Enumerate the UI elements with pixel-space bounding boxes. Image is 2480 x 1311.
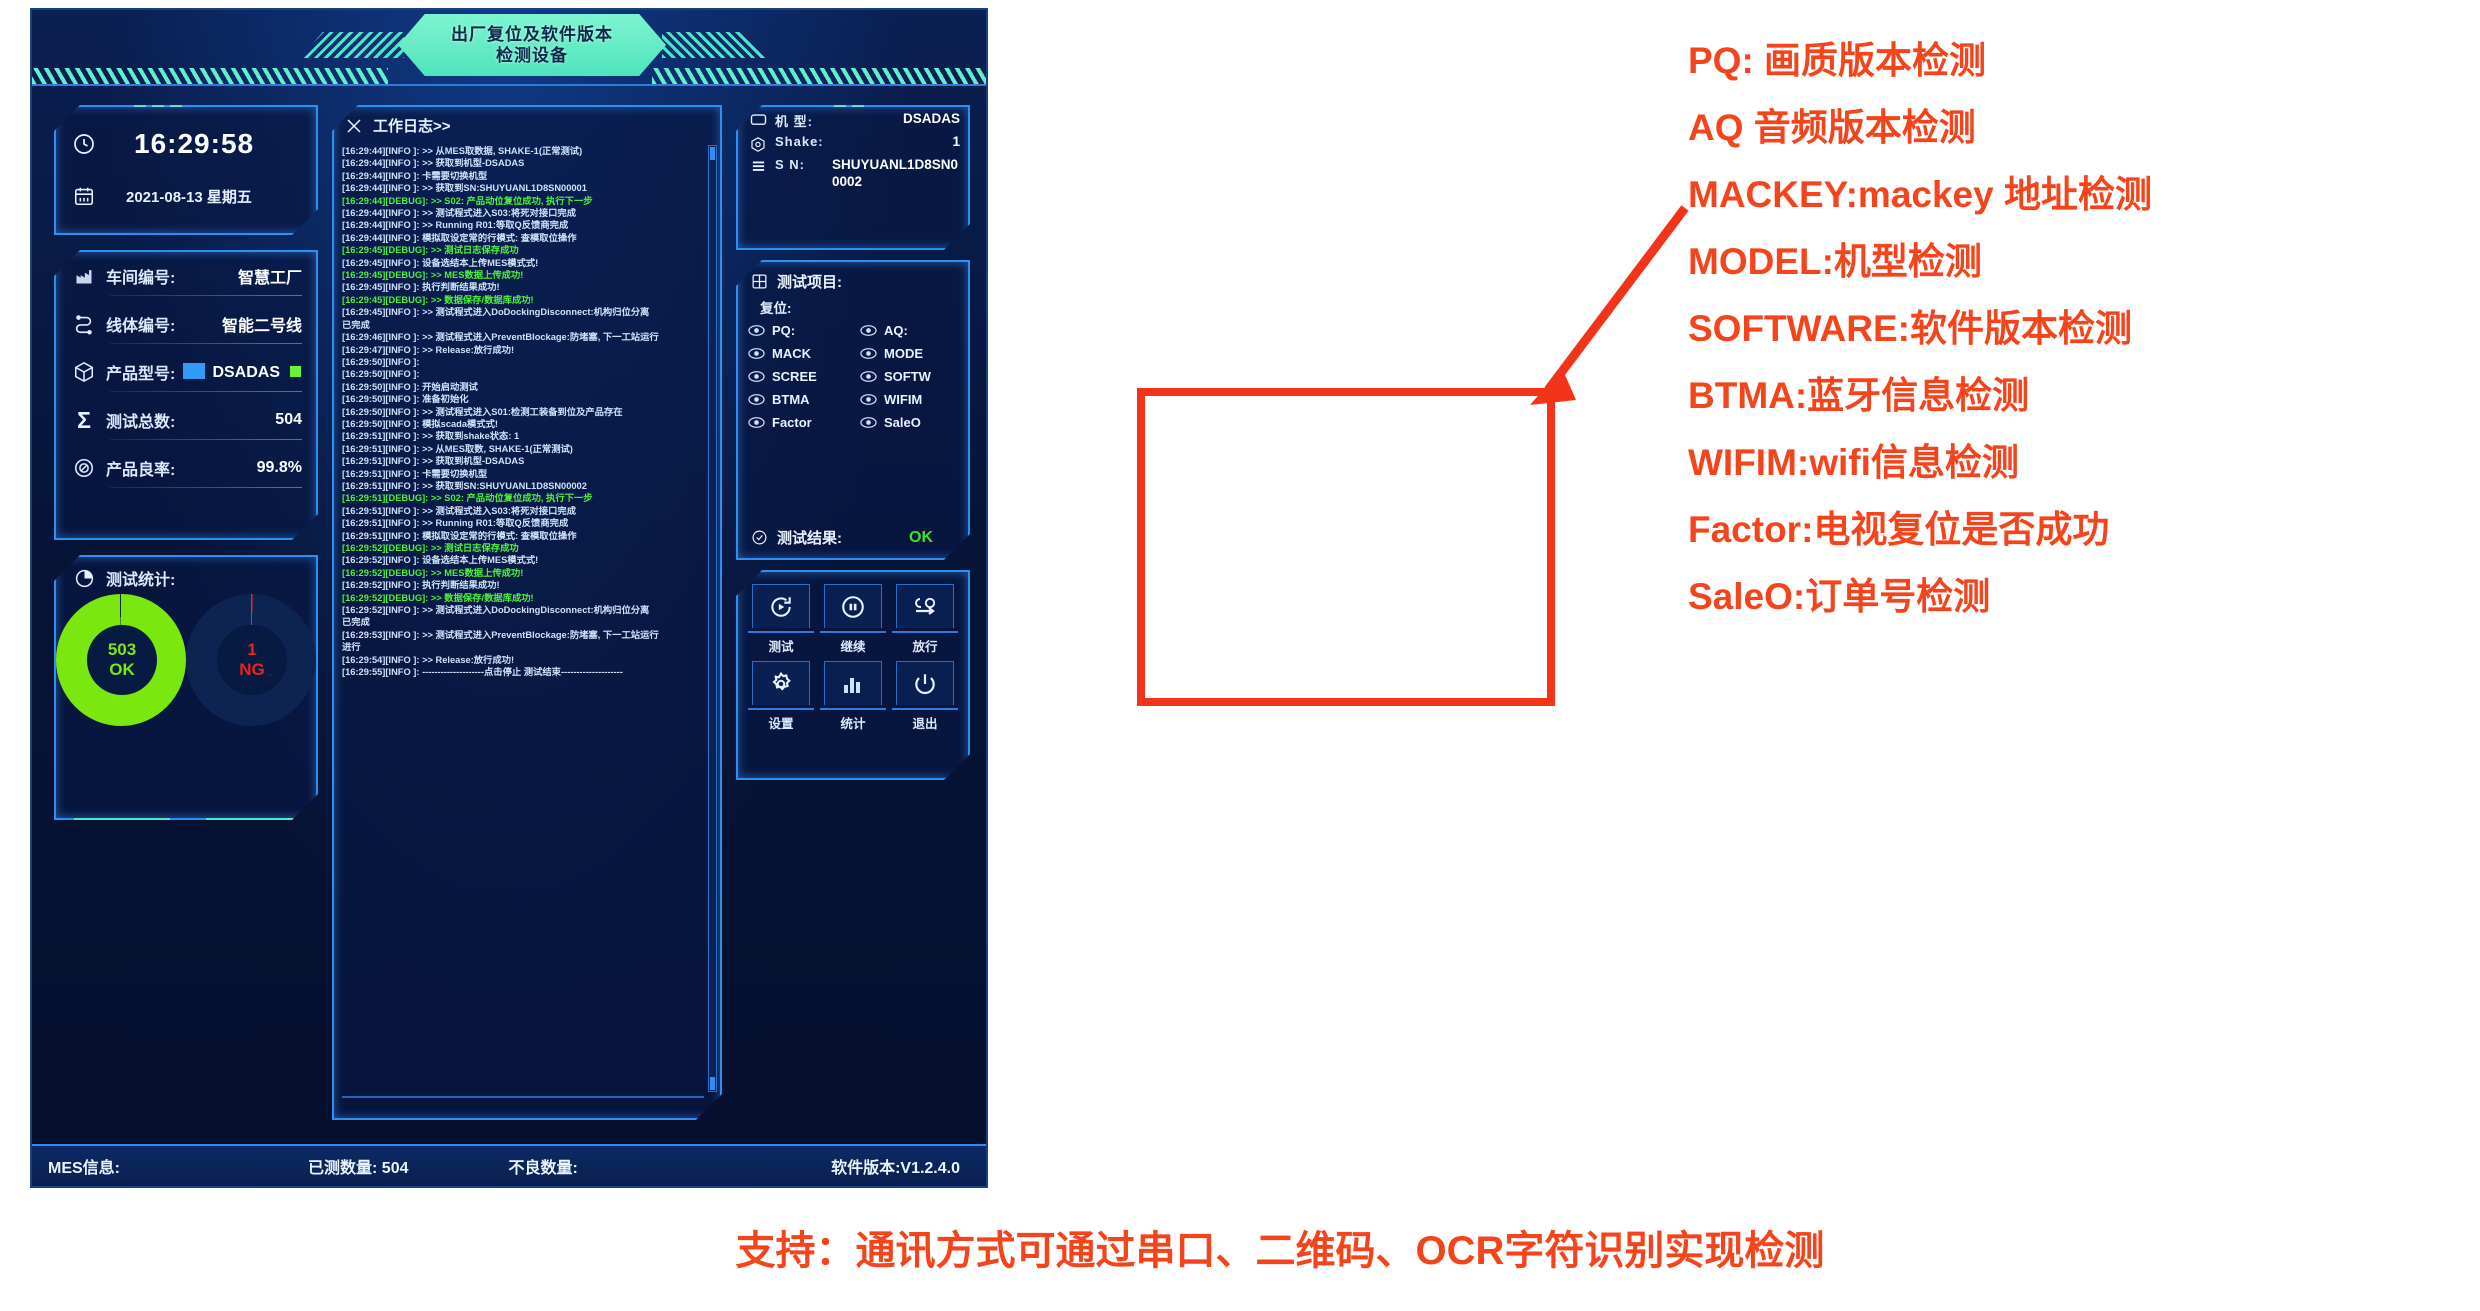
statistics-panel: 测试统计: 503 OK 1 NG	[54, 555, 318, 820]
log-line: [16:29:45][DEBUG]: >> MES数据上传成功!	[342, 269, 704, 281]
bottom-caption: 支持：通讯方式可通过串口、二维码、OCR字符识别实现检测	[480, 1218, 2080, 1276]
log-line: [16:29:52][INFO ]: 执行判断结果成功!	[342, 579, 704, 591]
log-line: [16:29:44][INFO ]: 模拟取设定常的行模式: 查模取位操作	[342, 232, 704, 244]
statistics-title: 测试统计:	[106, 566, 175, 590]
log-title: 工作日志>>	[373, 115, 451, 136]
button-label: 设置	[748, 708, 814, 732]
ok-count: 503	[108, 640, 136, 660]
power-icon	[896, 661, 954, 705]
test-item[interactable]: AQ:	[860, 323, 968, 338]
eye-icon	[860, 371, 877, 382]
mes-info-label: MES信息:	[48, 1154, 120, 1178]
go-icon	[896, 584, 954, 628]
test-item-label: SCREE	[772, 369, 817, 384]
test-result-row: 测试结果: OK	[749, 527, 957, 548]
tools-icon	[344, 117, 364, 135]
button-label: 测试	[748, 631, 814, 655]
info-label: 产品型号:	[106, 360, 175, 384]
test-button[interactable]: 测试	[746, 584, 816, 655]
factory-icon	[70, 266, 98, 286]
app-title-line1: 出厂复位及软件版本	[451, 24, 613, 45]
panel-nub	[852, 101, 864, 107]
defect-count-label: 不良数量:	[509, 1154, 578, 1178]
test-result-label: 测试结果:	[777, 527, 842, 548]
eye-icon	[748, 325, 765, 336]
play-refresh-icon	[752, 584, 810, 628]
current-time: 16:29:58	[134, 128, 254, 160]
log-line: [16:29:45][INFO ]: >> 测试程式进入DoDockingDis…	[342, 306, 704, 318]
log-line: [16:29:51][INFO ]: >> 测试程式进入S03:将死对接口完成	[342, 505, 704, 517]
device-row-model: 机 型: DSADAS	[738, 107, 968, 130]
log-line: [16:29:50][INFO ]:	[342, 356, 704, 368]
log-line: [16:29:51][INFO ]: >> 获取到机型-DSADAS	[342, 455, 704, 467]
info-row-model[interactable]: 产品型号: DSADAS	[56, 348, 316, 396]
log-line: [16:29:44][INFO ]: >> 从MES取数据, SHAKE-1(正…	[342, 145, 704, 157]
test-item-label: MACK	[772, 346, 811, 361]
production-info-panel: 车间编号: 智慧工厂 线体编号: 智能二号线 产品型号:	[54, 250, 318, 540]
test-item[interactable]: Factor	[748, 415, 856, 430]
info-value: 99.8%	[257, 459, 302, 477]
annotation-list: PQ: 画质版本检测AQ 音频版本检测MACKEY:mackey 地址检测MOD…	[1688, 42, 2458, 645]
header-banner: 出厂复位及软件版本 检测设备	[32, 10, 986, 88]
clock-icon	[70, 132, 98, 156]
device-info-panel: 机 型: DSADAS Shake: 1 S N:	[736, 105, 970, 250]
info-value: DSADAS	[212, 364, 280, 381]
log-line: [16:29:52][DEBUG]: >> 测试日志保存成功	[342, 542, 704, 554]
hex-icon	[746, 134, 770, 153]
eye-icon	[748, 394, 765, 405]
panel-nub	[170, 99, 182, 107]
eye-icon	[748, 348, 765, 359]
banner-wing-left	[300, 32, 404, 58]
ok-donut-center: 503 OK	[87, 625, 157, 695]
device-label: 机 型:	[775, 111, 813, 130]
test-items-grid: PQ:AQ:MACKMODESCREESOFTWBTMAWIFIMFactorS…	[738, 319, 968, 430]
info-row-total: Σ 测试总数: 504	[56, 396, 316, 444]
device-value: 1	[928, 134, 960, 151]
software-version-label: 软件版本:V1.2.4.0	[831, 1154, 960, 1178]
log-line: [16:29:45][INFO ]: 执行判断结果成功!	[342, 281, 704, 293]
box-icon	[70, 361, 98, 383]
annotation-line: MODEL:机型检测	[1688, 243, 2458, 280]
exit-button[interactable]: 退出	[890, 661, 960, 732]
log-footer-divider	[342, 1096, 704, 1098]
statistics-button[interactable]: 统计	[818, 661, 888, 732]
test-item-label: SOFTW	[884, 369, 931, 384]
log-line: [16:29:44][INFO ]: >> 获取到机型-DSADAS	[342, 157, 704, 169]
test-item[interactable]: SCREE	[748, 369, 856, 384]
test-item[interactable]: WIFIM	[860, 392, 968, 407]
eye-icon	[860, 325, 877, 336]
gear-icon	[752, 661, 810, 705]
datetime-panel: 16:29:58 2021-08-13 星期五	[54, 105, 318, 235]
log-line: [16:29:52][INFO ]: >> 测试程式进入DoDockingDis…	[342, 604, 704, 616]
hatch-right	[652, 68, 988, 84]
test-item[interactable]: MODE	[860, 346, 968, 361]
log-line: [16:29:55][INFO ]: --------------------点…	[342, 666, 704, 678]
log-line: 已完成	[342, 319, 704, 331]
test-item-label: AQ:	[884, 323, 908, 338]
button-label: 统计	[820, 708, 886, 732]
panel-nub	[152, 101, 164, 107]
pie-chart-icon	[70, 568, 98, 589]
test-item[interactable]: MACK	[748, 346, 856, 361]
log-line: [16:29:44][INFO ]: 卡需要切换机型	[342, 170, 704, 182]
banner-wing-right	[662, 32, 766, 58]
eye-icon	[748, 417, 765, 428]
hmi-screen: 出厂复位及软件版本 检测设备 16:29:58	[30, 8, 988, 1188]
log-line: [16:29:51][INFO ]: >> Running R01:等取Q反馈商…	[342, 517, 704, 529]
device-row-shake: Shake: 1	[738, 130, 968, 153]
panel-deco	[206, 818, 306, 821]
status-bar: MES信息: 已测数量: 504 不良数量: 软件版本:V1.2.4.0	[32, 1144, 986, 1186]
sigma-icon: Σ	[70, 407, 98, 434]
highlight-callout-box	[1137, 388, 1555, 706]
action-buttons-panel: 测试 继续 放行	[736, 570, 970, 780]
log-line: 进行	[342, 641, 704, 653]
test-items-panel: 测试项目: 复位: PQ:AQ:MACKMODESCREESOFTWBTMAWI…	[736, 260, 970, 560]
log-line: [16:29:51][INFO ]: >> 从MES取数, SHAKE-1(正常…	[342, 443, 704, 455]
info-value: 504	[275, 411, 302, 429]
log-lines-container[interactable]: [16:29:44][INFO ]: >> 从MES取数据, SHAKE-1(正…	[342, 145, 704, 1092]
device-value: DSADAS	[903, 111, 960, 128]
list-icon	[746, 157, 770, 174]
log-line: [16:29:51][INFO ]: 模拟取设定常的行模式: 查模取位操作	[342, 530, 704, 542]
annotation-line: SaleO:订单号检测	[1688, 578, 2458, 615]
app-title-line2: 检测设备	[496, 45, 568, 66]
log-line: [16:29:50][INFO ]: 开始启动测试	[342, 381, 704, 393]
ng-donut-center: 1 NG	[217, 625, 287, 695]
log-line: [16:29:46][INFO ]: >> 测试程式进入PreventBlock…	[342, 331, 704, 343]
info-row-workshop: 车间编号: 智慧工厂	[56, 252, 316, 300]
model-color-swatch	[183, 363, 205, 379]
statistics-donuts: 503 OK 1 NG	[56, 594, 316, 726]
log-line: [16:29:50][INFO ]: 准备初始化	[342, 393, 704, 405]
model-status-dot	[289, 365, 302, 378]
ok-donut: 503 OK	[56, 594, 186, 726]
test-result-value: OK	[909, 529, 933, 547]
test-item[interactable]: SOFTW	[860, 369, 968, 384]
eye-icon	[860, 394, 877, 405]
log-line: [16:29:47][INFO ]: >> Release:放行成功!	[342, 344, 704, 356]
test-item[interactable]: SaleO	[860, 415, 968, 430]
pause-icon	[824, 584, 882, 628]
screenshot-root: 出厂复位及软件版本 检测设备 16:29:58	[0, 0, 2480, 1311]
work-log-panel: 工作日志>> [16:29:44][INFO ]: >> 从MES取数据, SH…	[332, 105, 722, 1120]
ng-count: 1	[247, 640, 256, 660]
info-label: 产品良率:	[106, 456, 175, 480]
eye-icon	[748, 371, 765, 382]
annotation-line: Factor:电视复位是否成功	[1688, 511, 2458, 548]
callout-arrow	[1520, 200, 1690, 410]
app-title: 出厂复位及软件版本 检测设备	[398, 14, 666, 76]
test-item-label: Factor	[772, 415, 812, 430]
grid-icon	[749, 273, 769, 290]
header-divider	[32, 84, 986, 86]
current-date: 2021-08-13 星期五	[126, 186, 252, 207]
info-value: 智能二号线	[222, 312, 302, 336]
result-icon	[749, 529, 769, 546]
device-label: S N:	[775, 157, 805, 172]
log-line: [16:29:54][INFO ]: >> Release:放行成功!	[342, 654, 704, 666]
button-label: 退出	[892, 708, 958, 732]
info-label: 测试总数:	[106, 408, 175, 432]
device-value: SHUYUANL1D8SN00002	[832, 157, 960, 191]
test-items-header: 测试项目:	[738, 262, 968, 294]
line-icon	[70, 313, 98, 335]
panel-nub	[834, 99, 846, 107]
panel-deco	[74, 818, 170, 821]
annotation-line: BTMA:蓝牙信息检测	[1688, 377, 2458, 414]
test-item[interactable]: PQ:	[748, 323, 856, 338]
device-label: Shake:	[775, 134, 824, 149]
log-line: [16:29:45][DEBUG]: >> 测试日志保存成功	[342, 244, 704, 256]
device-row-sn: S N: SHUYUANL1D8SN00002	[738, 153, 968, 191]
log-line: [16:29:51][INFO ]: >> 获取到SN:SHUYUANL1D8S…	[342, 480, 704, 492]
log-line: [16:29:50][INFO ]: >> 测试程式进入S01:检测工装备到位及…	[342, 406, 704, 418]
ng-label: NG	[239, 660, 265, 680]
continue-button[interactable]: 继续	[818, 584, 888, 655]
eye-icon	[860, 417, 877, 428]
annotation-line: WIFIM:wifi信息检测	[1688, 444, 2458, 481]
log-line: [16:29:44][DEBUG]: >> S02: 产品动位复位成功, 执行下…	[342, 195, 704, 207]
log-line: [16:29:50][INFO ]: 模拟scada模式式!	[342, 418, 704, 430]
ok-label: OK	[109, 660, 135, 680]
product-model-value[interactable]: DSADAS	[183, 363, 302, 382]
log-line: [16:29:52][DEBUG]: >> 数据保存/数据库成功!	[342, 592, 704, 604]
test-item-label: BTMA	[772, 392, 810, 407]
log-line: [16:29:51][DEBUG]: >> S02: 产品动位复位成功, 执行下…	[342, 492, 704, 504]
annotation-line: PQ: 画质版本检测	[1688, 42, 2458, 79]
log-line: [16:29:45][INFO ]: 设备选结本上传MES模式式!	[342, 257, 704, 269]
action-buttons-grid: 测试 继续 放行	[738, 572, 968, 744]
test-items-subtitle: 复位:	[738, 294, 968, 319]
log-line: [16:29:44][INFO ]: >> 获取到SN:SHUYUANL1D8S…	[342, 182, 704, 194]
ng-donut: 1 NG	[186, 594, 316, 726]
target-icon	[70, 457, 98, 479]
log-scrollbar[interactable]	[708, 145, 717, 1092]
info-value: 智慧工厂	[238, 264, 302, 288]
log-header: 工作日志>>	[334, 107, 720, 140]
log-line: [16:29:44][INFO ]: >> Running R01:等取Q反馈商…	[342, 219, 704, 231]
log-line: [16:29:52][INFO ]: 设备选结本上传MES模式式!	[342, 554, 704, 566]
info-row-line: 线体编号: 智能二号线	[56, 300, 316, 348]
tested-count-label: 已测数量: 504	[308, 1154, 408, 1178]
info-label: 线体编号:	[106, 312, 175, 336]
annotation-line: AQ 音频版本检测	[1688, 109, 2458, 146]
test-item-label: PQ:	[772, 323, 795, 338]
log-line: [16:29:44][INFO ]: >> 测试程式进入S03:将死对接口完成	[342, 207, 704, 219]
button-label: 放行	[892, 631, 958, 655]
log-line: 已完成	[342, 616, 704, 628]
settings-button[interactable]: 设置	[746, 661, 816, 732]
log-line: [16:29:53][INFO ]: >> 测试程式进入PreventBlock…	[342, 629, 704, 641]
panel-nub	[134, 99, 146, 107]
annotation-line: SOFTWARE:软件版本检测	[1688, 310, 2458, 347]
test-item-label: WIFIM	[884, 392, 922, 407]
annotation-line: MACKEY:mackey 地址检测	[1688, 176, 2458, 213]
log-line: [16:29:45][DEBUG]: >> 数据保存/数据库成功!	[342, 294, 704, 306]
info-label: 车间编号:	[106, 264, 175, 288]
statistics-header: 测试统计:	[56, 557, 316, 590]
button-label: 继续	[820, 631, 886, 655]
log-line: [16:29:52][DEBUG]: >> MES数据上传成功!	[342, 567, 704, 579]
test-item[interactable]: BTMA	[748, 392, 856, 407]
log-line: [16:29:50][INFO ]:	[342, 368, 704, 380]
eye-icon	[860, 348, 877, 359]
calendar-icon	[70, 185, 98, 207]
info-row-yield: 产品良率: 99.8%	[56, 444, 316, 492]
bar-chart-icon	[824, 661, 882, 705]
log-line: [16:29:51][INFO ]: 卡需要切换机型	[342, 468, 704, 480]
test-item-label: SaleO	[884, 415, 921, 430]
test-item-label: MODE	[884, 346, 923, 361]
test-items-title: 测试项目:	[777, 271, 842, 292]
monitor-icon	[746, 111, 770, 127]
log-line: [16:29:51][INFO ]: >> 获取到shake状态: 1	[342, 430, 704, 442]
hatch-left	[32, 68, 388, 84]
release-button[interactable]: 放行	[890, 584, 960, 655]
